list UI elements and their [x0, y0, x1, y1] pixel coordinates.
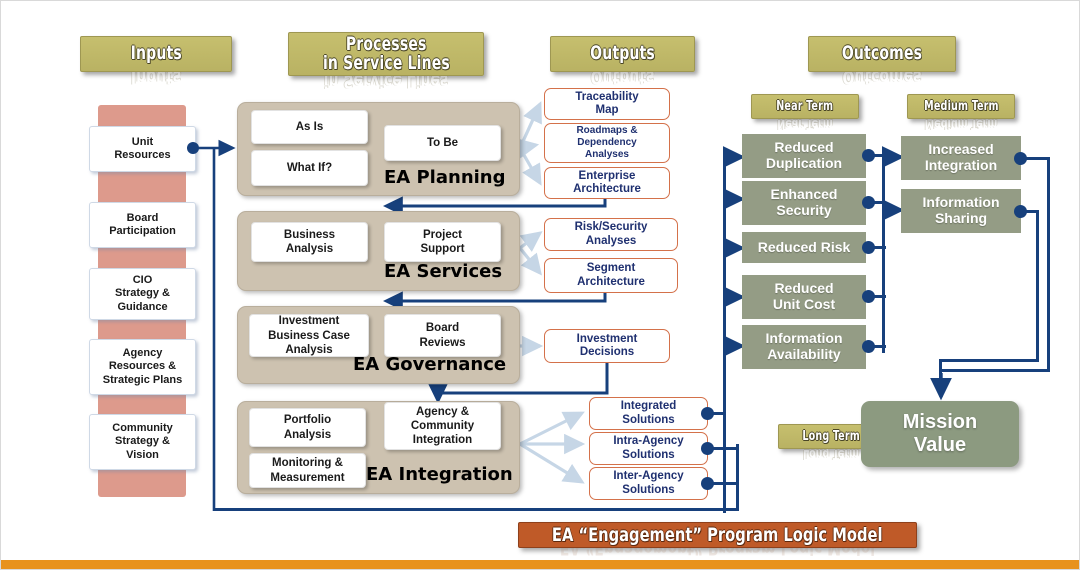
pbox-line-3: Integration [411, 433, 474, 447]
mission-path-a-v [1047, 157, 1050, 372]
mediumterm-feed-arrows [885, 157, 901, 210]
outcome-information-sharing[interactable]: Information Sharing [901, 189, 1021, 233]
pbox-line-2: Reviews [419, 336, 465, 350]
output-line-1: Segment [577, 262, 645, 275]
process-label-ea-services: EA Services [384, 261, 502, 282]
pbox-line-1: Board [419, 321, 465, 335]
title-banner: EA “Engagement” Program Logic Model [518, 522, 917, 548]
mediumterm-trunk [882, 153, 885, 353]
outcome-line-2: Unit Cost [773, 297, 835, 313]
connector-dot-inter-agency-solutions [701, 477, 714, 490]
slide-canvas: Inputs Inputs Processes in Service Lines… [0, 0, 1080, 570]
pbox-line-1: As Is [296, 120, 324, 134]
header-outputs-label: Outputs [590, 44, 655, 63]
mission-line-1: Mission [903, 411, 977, 434]
output-line-1: Risk/Security [575, 221, 648, 234]
input-line-1: Unit [114, 136, 170, 149]
title-banner-label: EA “Engagement” Program Logic Model [552, 524, 883, 546]
input-line-3: Vision [112, 449, 173, 462]
connector-dot-unit-resources [187, 142, 199, 154]
connector-dot-enhanced-security [862, 196, 875, 209]
pbox-line-1: Project [420, 228, 464, 242]
process-box-as-is[interactable]: As Is [251, 110, 368, 144]
pbox-line-3: Analysis [268, 343, 350, 357]
pbox-line-2: Measurement [270, 471, 344, 485]
input-item-agency-resources[interactable]: Agency Resources & Strategic Plans [89, 339, 196, 395]
input-line-3: Guidance [115, 301, 170, 314]
header-processes-line2: in Service Lines [322, 54, 449, 73]
outcome-line-1: Information [923, 195, 1000, 211]
output-intra-agency-solutions[interactable]: Intra-Agency Solutions [589, 432, 708, 465]
feedback-loop-right [736, 444, 739, 511]
nearterm-feed-arrows [726, 157, 742, 346]
outcome-reduced-duplication[interactable]: Reduced Duplication [742, 134, 866, 178]
header-inputs-reflection: Inputs [80, 72, 232, 86]
outcome-header-medium-term: Medium Term [907, 94, 1015, 119]
output-line-1: Investment [577, 333, 638, 346]
connector-dot-information-availability [862, 340, 875, 353]
pbox-line-2: Support [420, 242, 464, 256]
outcome-line-1: Reduced [773, 281, 835, 297]
input-item-community-strategy[interactable]: Community Strategy & Vision [89, 414, 196, 470]
output-investment-decisions[interactable]: Investment Decisions [544, 329, 670, 363]
output-line-1: Intra-Agency [613, 435, 683, 448]
connector-dot-reduced-unit-cost [862, 290, 875, 303]
input-line-2: Resources [114, 149, 170, 162]
feedback-loop-bottom [214, 508, 739, 511]
output-line-3: Analyses [576, 149, 637, 161]
mission-path-join-a [939, 369, 1050, 372]
output-traceability-map[interactable]: Traceability Map [544, 88, 670, 120]
output-line-2: Decisions [577, 346, 638, 359]
connector-dot-integrated-solutions [701, 407, 714, 420]
outcome-information-availability[interactable]: Information Availability [742, 325, 866, 369]
process-box-what-if[interactable]: What If? [251, 150, 368, 186]
outcome-line-2: Integration [925, 158, 997, 174]
pbox-line-2: Analysis [284, 242, 335, 256]
services-fanout [520, 233, 540, 273]
header-outcomes: Outcomes [808, 36, 956, 72]
header-outputs: Outputs [550, 36, 695, 72]
connector-dot-reduced-duplication [862, 149, 875, 162]
mission-line-2: Value [903, 434, 977, 457]
header-processes: Processes in Service Lines [288, 32, 484, 76]
output-line-2: Architecture [577, 276, 645, 289]
input-line-3: Strategic Plans [103, 374, 182, 387]
output-line-2: Dependency [576, 137, 637, 149]
input-item-cio-strategy[interactable]: CIO Strategy & Guidance [89, 268, 196, 320]
connector-dot-intra-agency-solutions [701, 442, 714, 455]
pbox-line-2: Community [411, 419, 474, 433]
output-line-2: Solutions [613, 484, 683, 497]
input-line-2: Resources & [103, 360, 182, 373]
mission-path-down [939, 359, 942, 389]
output-line-2: Architecture [573, 183, 641, 196]
input-line-1: CIO [115, 274, 170, 287]
header-outputs-reflection: Outputs [550, 72, 695, 86]
input-line-2: Participation [109, 225, 176, 238]
pbox-line-1: To Be [427, 136, 458, 150]
input-line-1: Board [109, 212, 176, 225]
outcome-enhanced-security[interactable]: Enhanced Security [742, 181, 866, 225]
outcome-mission-value[interactable]: Mission Value [861, 401, 1019, 467]
pbox-line-1: Investment [268, 314, 350, 328]
output-risk-security-analyses[interactable]: Risk/Security Analyses [544, 218, 678, 251]
connector-dot-reduced-risk [862, 241, 875, 254]
integration-fanout [520, 413, 582, 482]
pbox-line-1: Portfolio [284, 413, 331, 427]
bottom-accent-bar [1, 560, 1080, 569]
output-line-2: Solutions [613, 449, 683, 462]
output-segment-architecture[interactable]: Segment Architecture [544, 258, 678, 293]
output-inter-agency-solutions[interactable]: Inter-Agency Solutions [589, 467, 708, 500]
outcome-line-2: Availability [766, 347, 843, 363]
process-box-agency-community-integration[interactable]: Agency & Community Integration [384, 402, 501, 450]
mission-path-join-b [939, 359, 1039, 362]
outcome-reduced-unit-cost[interactable]: Reduced Unit Cost [742, 275, 866, 319]
process-label-ea-governance: EA Governance [353, 354, 506, 375]
pbox-line-2: Business Case [268, 329, 350, 343]
planning-fanout [520, 104, 540, 183]
title-banner-reflection: EA “Engagement” Program Logic Model [518, 548, 917, 557]
output-line-2: Analyses [575, 235, 648, 248]
outcome-reduced-risk[interactable]: Reduced Risk [742, 232, 866, 263]
outcome-line-2: Duplication [766, 156, 842, 172]
output-line-1: Traceability [575, 91, 638, 104]
output-line-2: Map [575, 104, 638, 117]
outcome-line-2: Security [771, 203, 838, 219]
outcome-line-1: Enhanced [771, 187, 838, 203]
outcome-header-near-term: Near Term [751, 94, 859, 119]
input-line-2: Strategy & [115, 287, 170, 300]
output-line-1: Inter-Agency [613, 470, 683, 483]
process-label-ea-planning: EA Planning [384, 167, 506, 188]
header-outcomes-label: Outcomes [842, 44, 922, 63]
process-box-investment-business-case[interactable]: Investment Business Case Analysis [249, 314, 369, 357]
output-line-1: Enterprise [573, 170, 641, 183]
pbox-line-1: Monitoring & [270, 456, 344, 470]
input-line-2: Strategy & [112, 435, 173, 448]
output-integrated-solutions[interactable]: Integrated Solutions [589, 397, 708, 430]
pbox-line-1: Business [284, 228, 335, 242]
header-outcomes-reflection: Outcomes [808, 72, 956, 86]
outcome-line-1: Information [766, 331, 843, 347]
header-inputs-label: Inputs [130, 44, 181, 63]
outcome-header-medium-term-reflection: Medium Term [907, 119, 1015, 130]
input-item-board-participation[interactable]: Board Participation [89, 202, 196, 248]
output-line-1: Integrated [621, 400, 677, 413]
output-roadmaps-dependency-analyses[interactable]: Roadmaps & Dependency Analyses [544, 123, 670, 163]
outcome-header-near-term-reflection: Near Term [751, 119, 859, 130]
process-box-board-reviews[interactable]: Board Reviews [384, 314, 501, 357]
outcome-line-1: Increased [925, 142, 997, 158]
outcome-line-1: Reduced [766, 140, 842, 156]
input-line-1: Community [112, 422, 173, 435]
pbox-line-1: What If? [287, 161, 332, 175]
pbox-line-2: Analysis [284, 428, 331, 442]
mission-path-a-h [1021, 157, 1050, 160]
nearterm-trunk [723, 153, 726, 418]
header-processes-reflection: in Service Lines [288, 76, 484, 90]
pbox-line-1: Agency & [411, 405, 474, 419]
process-box-monitoring-measurement[interactable]: Monitoring & Measurement [249, 453, 366, 488]
input-item-unit-resources[interactable]: Unit Resources [89, 126, 196, 172]
outcome-increased-integration[interactable]: Increased Integration [901, 136, 1021, 180]
header-inputs: Inputs [80, 36, 232, 72]
process-box-portfolio-analysis[interactable]: Portfolio Analysis [249, 408, 366, 447]
output-line-1: Roadmaps & [576, 125, 637, 137]
output-enterprise-architecture[interactable]: Enterprise Architecture [544, 167, 670, 199]
process-label-ea-integration: EA Integration [366, 464, 513, 485]
mission-path-b-v [1036, 210, 1039, 362]
outcome-line-2: Sharing [923, 211, 1000, 227]
process-box-to-be[interactable]: To Be [384, 125, 501, 161]
output-line-2: Solutions [621, 414, 677, 427]
process-box-project-support[interactable]: Project Support [384, 222, 501, 262]
feedback-loop-right-upper [723, 413, 726, 513]
outcome-line-1: Reduced Risk [758, 240, 851, 256]
process-box-business-analysis[interactable]: Business Analysis [251, 222, 368, 262]
input-line-1: Agency [103, 347, 182, 360]
